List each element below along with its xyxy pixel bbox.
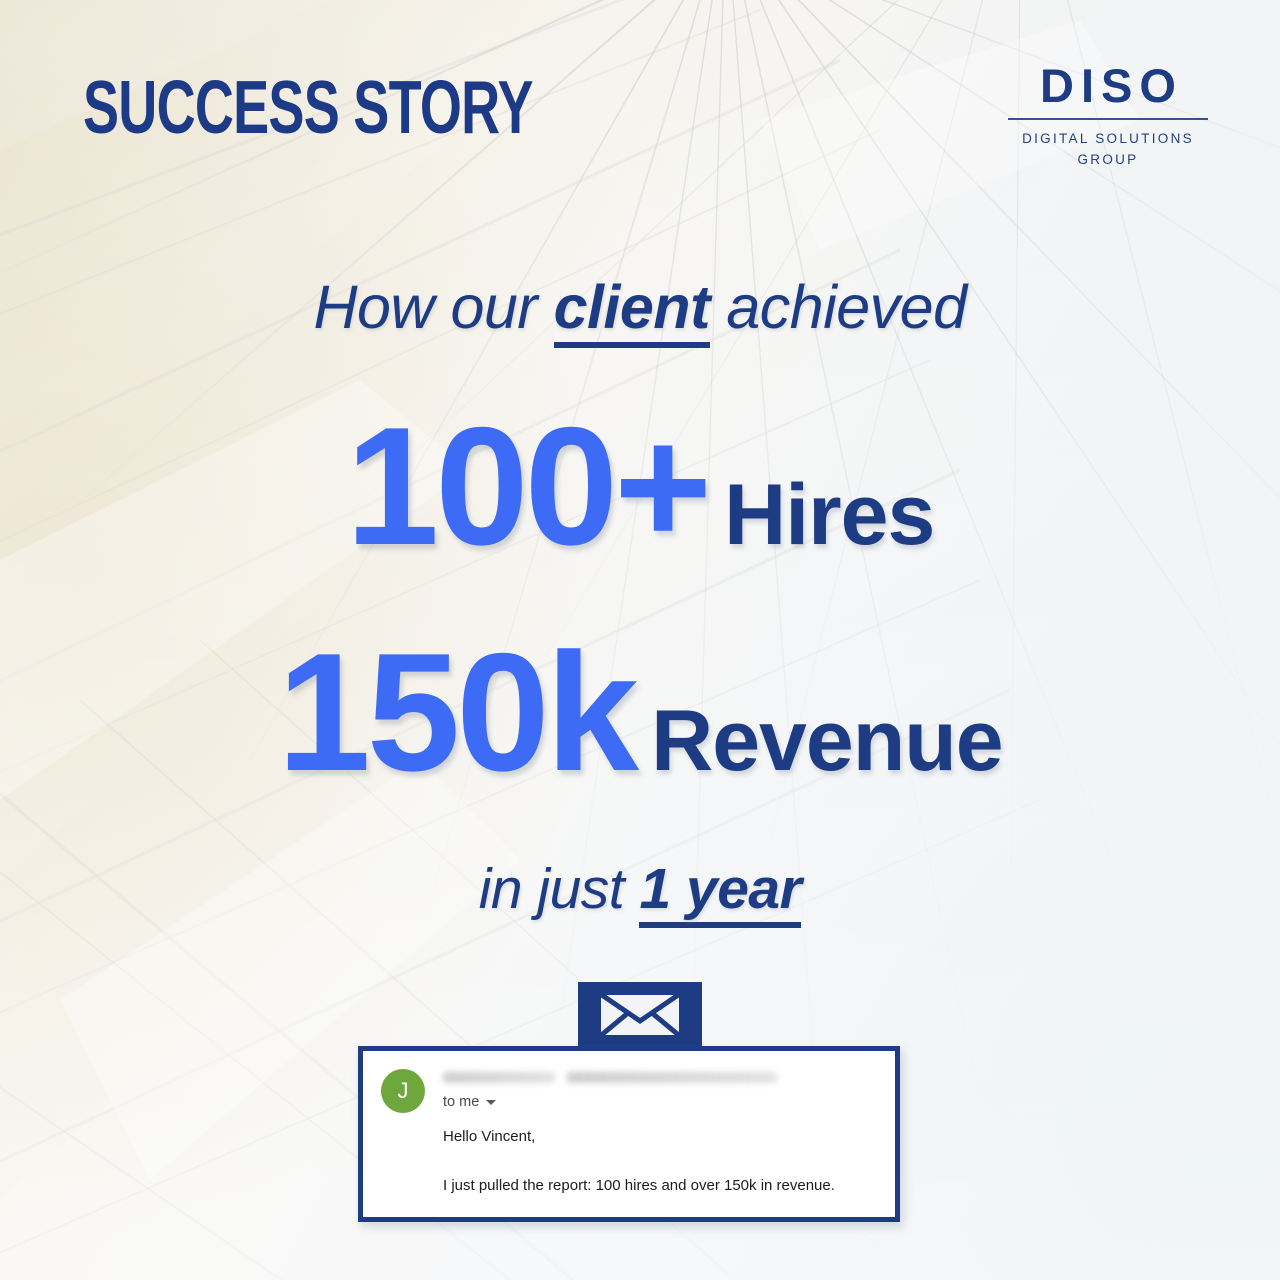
brand-logo: DISO DIGITAL SOLUTIONS GROUP [1008, 62, 1208, 171]
poster-canvas: SUCCESS STORY DISO DIGITAL SOLUTIONS GRO… [0, 0, 1280, 1280]
page-title: SUCCESS STORY [83, 73, 533, 142]
email-body: Hello Vincent, I just pulled the report:… [363, 1113, 895, 1195]
envelope-icon [578, 982, 702, 1048]
email-meta: to me [443, 1068, 777, 1110]
sender-address-blurred [567, 1072, 777, 1083]
sender-name-blurred [443, 1072, 555, 1083]
stat-revenue: 150kRevenue [0, 628, 1280, 796]
email-header: J to me [363, 1051, 895, 1113]
timeframe-emphasis: 1 year [639, 857, 801, 928]
stat-hires-unit: Hires [724, 472, 934, 558]
lead-text-before: How our [313, 273, 553, 341]
logo-tagline-line1: DIGITAL SOLUTIONS [1008, 129, 1208, 150]
logo-wordmark: DISO [1008, 62, 1208, 109]
email-greeting: Hello Vincent, [443, 1127, 895, 1147]
lead-text-after: achieved [710, 273, 967, 341]
recipient-row[interactable]: to me [443, 1094, 777, 1110]
logo-divider [1008, 118, 1208, 120]
email-card: J to me Hello Vincent, I just pulled the… [358, 1046, 900, 1222]
recipient-label: to me [443, 1094, 479, 1110]
timeframe-statement: in just 1 year [0, 856, 1280, 922]
chevron-down-icon[interactable] [486, 1100, 496, 1105]
stat-revenue-value: 150k [277, 628, 635, 796]
stat-hires: 100+Hires [0, 402, 1280, 570]
email-message: I just pulled the report: 100 hires and … [443, 1176, 895, 1196]
stat-hires-value: 100+ [346, 402, 708, 570]
logo-tagline-line2: GROUP [1008, 150, 1208, 171]
sender-redacted [443, 1070, 777, 1085]
lead-statement: How our client achieved [0, 272, 1280, 342]
timeframe-text-before: in just [479, 857, 640, 921]
lead-emphasis: client [554, 273, 710, 348]
avatar: J [381, 1069, 425, 1113]
stat-revenue-unit: Revenue [651, 698, 1003, 784]
